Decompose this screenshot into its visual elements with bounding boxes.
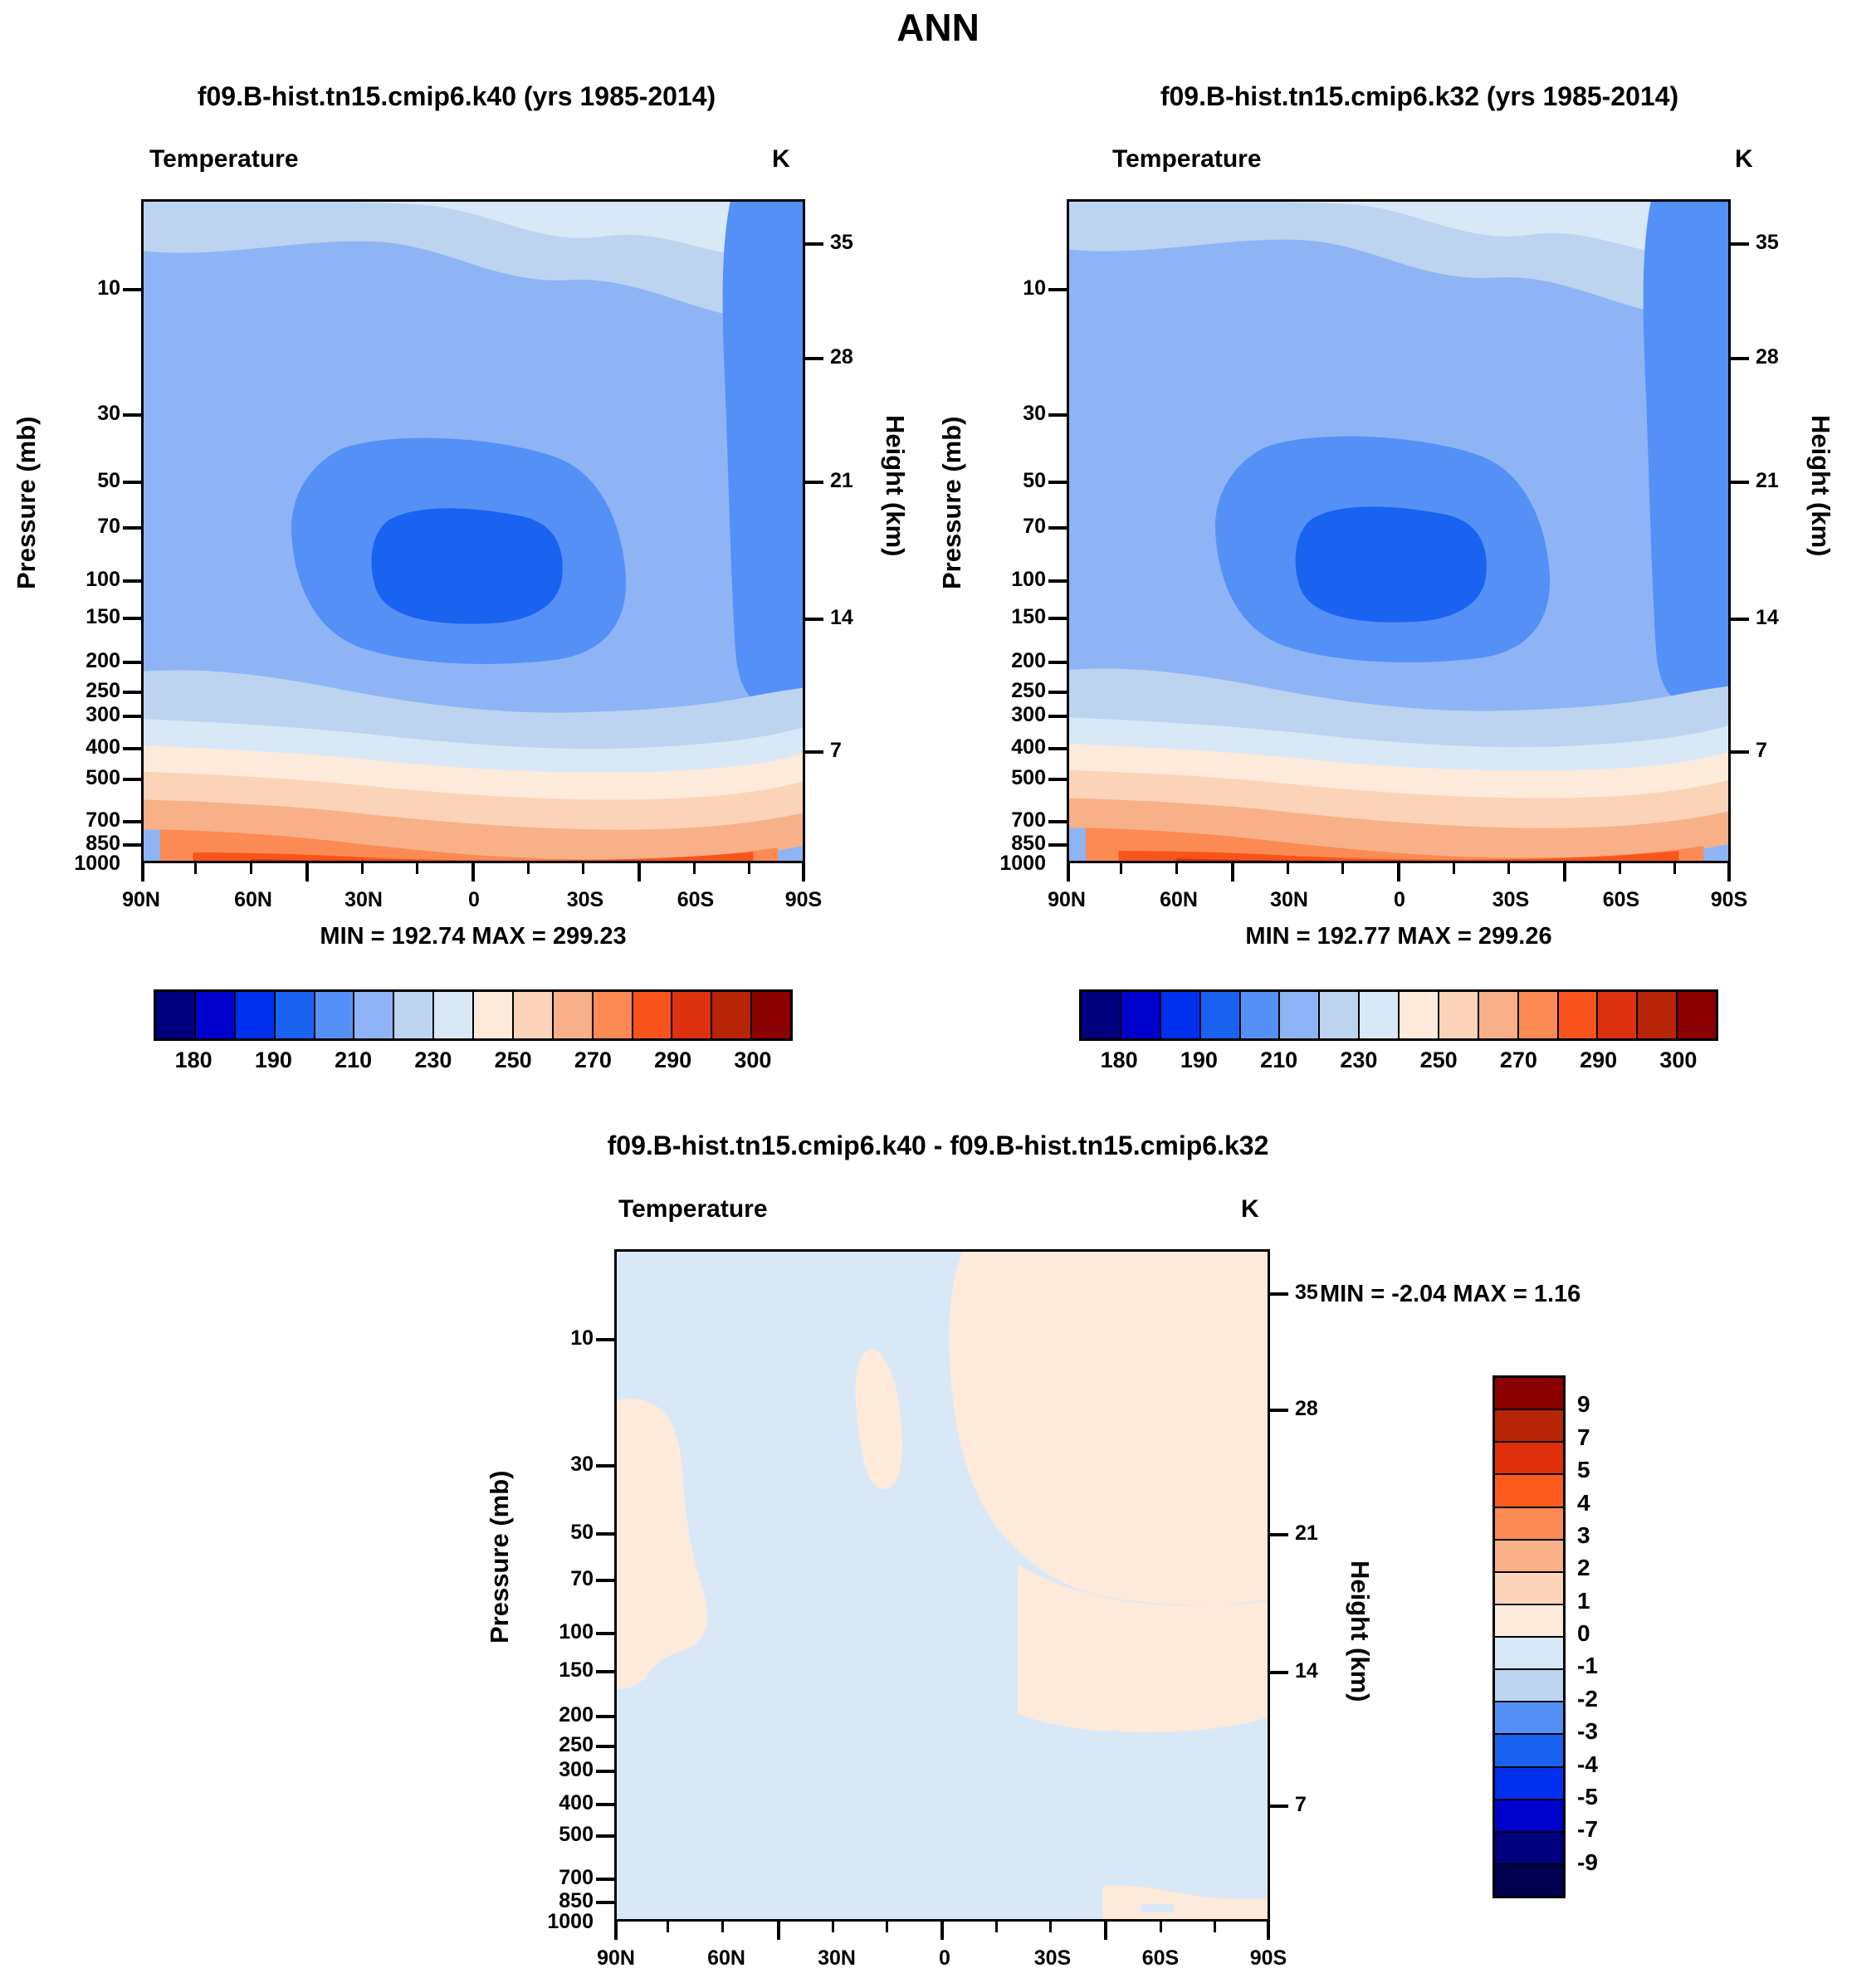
- right-ytick-mark-400: [1048, 747, 1067, 750]
- left-ytick-mark-150: [123, 617, 141, 620]
- colorbar-tick-label: 300: [1645, 1048, 1712, 1073]
- diff-htick-mark-14: [1270, 1671, 1288, 1674]
- colorbar-cell: [752, 992, 790, 1038]
- left-ytick-mark-250: [123, 691, 141, 694]
- colorbar-cell: [1495, 1378, 1563, 1410]
- right-ytick-mark-300: [1048, 715, 1067, 718]
- colorbar-cell: [1495, 1833, 1563, 1865]
- left-htick-21: 21: [830, 469, 853, 493]
- left-units-label: K: [772, 145, 790, 173]
- left-contour-plot[interactable]: [141, 199, 805, 863]
- left-height-axis-title: Height (km): [880, 415, 910, 664]
- colorbar-cell: [156, 992, 196, 1038]
- diff-htick-28: 28: [1295, 1397, 1318, 1421]
- diff-htick-mark-35: [1270, 1292, 1288, 1296]
- colorbar-cell: [434, 992, 474, 1038]
- diff-ytick-mark-200: [596, 1715, 614, 1718]
- right-ytick-mark-500: [1048, 778, 1067, 781]
- right-ptick-100: 100: [975, 568, 1046, 592]
- right-height-axis-title: Height (km): [1805, 415, 1835, 664]
- right-htick-mark-28: [1731, 357, 1749, 360]
- colorbar-cell: [1082, 992, 1121, 1038]
- colorbar-tick-label: 300: [720, 1048, 786, 1073]
- left-ptick-100: 100: [50, 568, 120, 592]
- right-xtick-60S: 60S: [1580, 888, 1663, 912]
- colorbar-tick-label: 210: [1246, 1048, 1312, 1073]
- colorbar-tick-label: 270: [559, 1048, 626, 1073]
- colorbar-tick-label: -2: [1577, 1686, 1598, 1712]
- right-ytick-mark-100: [1048, 579, 1067, 583]
- left-ytick-mark-300: [123, 715, 141, 718]
- diff-xtick-60N: 60N: [685, 1946, 768, 1971]
- left-xtick-30N: 30N: [322, 888, 405, 912]
- right-contour-plot[interactable]: [1067, 199, 1731, 863]
- diff-ytick-mark-400: [596, 1803, 614, 1806]
- left-ytick-mark-850: [123, 843, 141, 847]
- colorbar-tick-label: -1: [1577, 1653, 1598, 1679]
- colorbar-cell: [1678, 992, 1716, 1038]
- right-xtick-90S: 90S: [1688, 888, 1771, 912]
- colorbar-tick-label: -9: [1577, 1849, 1598, 1876]
- diff-htick-35: 35: [1295, 1281, 1318, 1305]
- left-pressure-axis-title: Pressure (mb): [12, 315, 42, 589]
- colorbar-tick-label: 3: [1577, 1522, 1590, 1549]
- right-ytick-mark-700: [1048, 820, 1067, 823]
- colorbar-cell: [1495, 1865, 1563, 1896]
- diff-ptick-150: 150: [523, 1658, 594, 1683]
- left-ptick-150: 150: [50, 605, 120, 629]
- colorbar-cell: [236, 992, 276, 1038]
- right-htick-mark-35: [1731, 242, 1749, 246]
- colorbar-cell: [1495, 1443, 1563, 1475]
- diff-ptick-500: 500: [523, 1823, 594, 1847]
- diff-htick-mark-28: [1270, 1409, 1288, 1412]
- right-ptick-300: 300: [975, 703, 1046, 727]
- colorbar-cell: [1495, 1670, 1563, 1702]
- colorbar-tick-label: 4: [1577, 1490, 1590, 1516]
- colorbar-cell: [1320, 992, 1360, 1038]
- colorbar-cell: [276, 992, 315, 1038]
- left-ytick-mark-10: [123, 288, 141, 291]
- colorbar-tick-label: -5: [1577, 1784, 1598, 1810]
- colorbar-cell: [672, 992, 712, 1038]
- colorbar-cell: [1280, 992, 1320, 1038]
- colorbar-cell: [1121, 992, 1161, 1038]
- colorbar-cell: [1495, 1638, 1563, 1670]
- right-ptick-50: 50: [975, 469, 1046, 493]
- right-htick-mark-14: [1731, 618, 1749, 621]
- figure-suptitle: ANN: [0, 5, 1876, 50]
- colorbar-cell: [1495, 1410, 1563, 1443]
- left-ytick-mark-50: [123, 481, 141, 484]
- colorbar-tick-label: -4: [1577, 1751, 1598, 1778]
- left-ptick-70: 70: [50, 515, 120, 539]
- colorbar-cell: [1161, 992, 1201, 1038]
- colorbar-cell: [1495, 1735, 1563, 1767]
- colorbar-cell: [315, 992, 355, 1038]
- diff-ptick-300: 300: [523, 1758, 594, 1782]
- right-htick-mark-21: [1731, 481, 1749, 484]
- colorbar-cell: [633, 992, 673, 1038]
- diff-xtick-90S: 90S: [1227, 1946, 1310, 1971]
- colorbar-cell: [1598, 992, 1638, 1038]
- colorbar-tick-label: 190: [1165, 1048, 1232, 1073]
- left-ytick-mark-500: [123, 778, 141, 781]
- left-ptick-50: 50: [50, 469, 120, 493]
- colorbar-cell: [1495, 1541, 1563, 1573]
- colorbar-tick-label: 230: [1326, 1048, 1392, 1073]
- left-htick-mark-14: [805, 618, 823, 621]
- colorbar-cell: [1439, 992, 1479, 1038]
- right-ptick-30: 30: [975, 402, 1046, 426]
- colorbar-cell: [1638, 992, 1678, 1038]
- right-htick-mark-7: [1731, 750, 1749, 754]
- diff-ytick-mark-150: [596, 1670, 614, 1673]
- diff-height-axis-title: Height (km): [1345, 1560, 1375, 1810]
- colorbar-cell: [1495, 1605, 1563, 1638]
- diff-colorbar-labels: 97543210-1-2-3-4-5-7-9: [1577, 1375, 1652, 1898]
- left-colorbar-labels: 180190210230250270290300: [154, 1048, 793, 1081]
- left-ptick-700: 700: [50, 808, 120, 833]
- diff-ptick-70: 70: [523, 1567, 594, 1591]
- diff-htick-7: 7: [1295, 1793, 1307, 1817]
- diff-panel-title: f09.B-hist.tn15.cmip6.k40 - f09.B-hist.t…: [274, 1131, 1602, 1161]
- left-htick-mark-21: [805, 481, 823, 484]
- left-xtick-0: 0: [432, 888, 515, 912]
- diff-xtick-0: 0: [903, 1946, 986, 1971]
- diff-ytick-mark-300: [596, 1770, 614, 1773]
- right-ptick-1000: 1000: [959, 852, 1046, 876]
- left-ytick-mark-700: [123, 820, 141, 823]
- right-ptick-700: 700: [975, 808, 1046, 833]
- left-xtick-90N: 90N: [100, 888, 183, 912]
- diff-xtick-30S: 30S: [1011, 1946, 1094, 1971]
- diff-variable-label: Temperature: [618, 1195, 768, 1223]
- colorbar-cell: [1495, 1768, 1563, 1800]
- left-ptick-10: 10: [50, 276, 120, 300]
- right-xtick-60N: 60N: [1137, 888, 1220, 912]
- left-ptick-500: 500: [50, 766, 120, 790]
- diff-ytick-mark-30: [596, 1464, 614, 1468]
- diff-xtick-90N: 90N: [574, 1946, 657, 1971]
- left-ytick-mark-30: [123, 413, 141, 417]
- left-ptick-400: 400: [50, 735, 120, 759]
- colorbar-cell: [1495, 1508, 1563, 1541]
- diff-xtick-60S: 60S: [1119, 1946, 1202, 1971]
- colorbar-tick-label: -3: [1577, 1718, 1598, 1745]
- diff-htick-14: 14: [1295, 1659, 1318, 1683]
- colorbar-tick-label: 250: [1405, 1048, 1472, 1073]
- colorbar-cell: [1400, 992, 1439, 1038]
- right-colorbar-labels: 180190210230250270290300: [1079, 1048, 1718, 1081]
- diff-xtick-30N: 30N: [795, 1946, 878, 1971]
- diff-htick-mark-21: [1270, 1533, 1288, 1536]
- colorbar-cell: [514, 992, 554, 1038]
- colorbar-tick-label: 5: [1577, 1457, 1590, 1483]
- colorbar-cell: [196, 992, 236, 1038]
- left-ptick-300: 300: [50, 703, 120, 727]
- right-units-label: K: [1735, 145, 1753, 173]
- diff-ytick-mark-10: [596, 1338, 614, 1341]
- diff-ytick-mark-700: [596, 1878, 614, 1881]
- colorbar-cell: [1201, 992, 1241, 1038]
- right-ptick-10: 10: [975, 276, 1046, 300]
- diff-ptick-250: 250: [523, 1733, 594, 1757]
- right-minmax-label: MIN = 192.77 MAX = 299.26: [1067, 923, 1731, 950]
- left-xtick-90S: 90S: [762, 888, 845, 912]
- right-htick-7: 7: [1756, 739, 1767, 763]
- colorbar-tick-label: 290: [640, 1048, 706, 1073]
- right-ptick-150: 150: [975, 605, 1046, 629]
- colorbar-cell: [1495, 1475, 1563, 1507]
- left-ytick-mark-70: [123, 526, 141, 530]
- right-ytick-mark-250: [1048, 691, 1067, 694]
- diff-ptick-100: 100: [523, 1620, 594, 1644]
- right-ytick-mark-850: [1048, 843, 1067, 847]
- diff-htick-mark-7: [1270, 1805, 1288, 1808]
- right-ptick-400: 400: [975, 735, 1046, 759]
- left-htick-mark-35: [805, 242, 823, 246]
- right-ptick-200: 200: [975, 649, 1046, 673]
- left-xtick-60N: 60N: [212, 888, 295, 912]
- diff-ytick-mark-70: [596, 1579, 614, 1582]
- colorbar-tick-label: 270: [1485, 1048, 1551, 1073]
- colorbar-tick-label: 2: [1577, 1555, 1590, 1581]
- diff-xaxis-ticks: [614, 1922, 1270, 1940]
- colorbar-cell: [354, 992, 394, 1038]
- left-htick-7: 7: [830, 739, 842, 763]
- left-panel-title: f09.B-hist.tn15.cmip6.k40 (yrs 1985-2014…: [25, 81, 888, 112]
- right-ytick-mark-50: [1048, 481, 1067, 484]
- diff-htick-21: 21: [1295, 1521, 1318, 1546]
- diff-units-label: K: [1241, 1195, 1259, 1223]
- right-variable-label: Temperature: [1112, 145, 1262, 173]
- diff-pressure-axis-title: Pressure (mb): [485, 1370, 515, 1643]
- right-xtick-30S: 30S: [1469, 888, 1552, 912]
- colorbar-tick-label: 190: [240, 1048, 306, 1073]
- colorbar-tick-label: -7: [1577, 1816, 1598, 1843]
- colorbar-cell: [394, 992, 434, 1038]
- colorbar-cell: [1495, 1800, 1563, 1833]
- diff-ptick-30: 30: [523, 1453, 594, 1477]
- left-ptick-250: 250: [50, 679, 120, 703]
- colorbar-tick-label: 7: [1577, 1424, 1590, 1451]
- left-xtick-60S: 60S: [654, 888, 737, 912]
- right-htick-35: 35: [1756, 231, 1779, 255]
- diff-ytick-mark-100: [596, 1632, 614, 1635]
- diff-ptick-400: 400: [523, 1791, 594, 1815]
- diff-ptick-50: 50: [523, 1521, 594, 1545]
- colorbar-tick-label: 290: [1566, 1048, 1632, 1073]
- colorbar-tick-label: 1: [1577, 1588, 1590, 1614]
- colorbar-cell: [554, 992, 594, 1038]
- left-ytick-mark-400: [123, 747, 141, 750]
- diff-ytick-mark-50: [596, 1532, 614, 1536]
- colorbar-cell: [474, 992, 514, 1038]
- colorbar-tick-label: 250: [480, 1048, 546, 1073]
- left-htick-35: 35: [830, 231, 853, 255]
- right-htick-14: 14: [1756, 606, 1779, 630]
- colorbar-tick-label: 9: [1577, 1391, 1590, 1418]
- colorbar-tick-label: 0: [1577, 1620, 1590, 1647]
- left-xtick-30S: 30S: [544, 888, 627, 912]
- left-htick-mark-7: [805, 750, 823, 754]
- left-ptick-30: 30: [50, 402, 120, 426]
- right-xaxis-ticks: [1067, 863, 1731, 882]
- left-htick-28: 28: [830, 345, 853, 369]
- left-ptick-200: 200: [50, 649, 120, 673]
- right-ptick-70: 70: [975, 515, 1046, 539]
- right-htick-21: 21: [1756, 469, 1779, 493]
- right-xtick-30N: 30N: [1248, 888, 1331, 912]
- diff-ptick-700: 700: [523, 1866, 594, 1890]
- colorbar-cell: [1519, 992, 1559, 1038]
- colorbar-cell: [712, 992, 752, 1038]
- left-variable-label: Temperature: [149, 145, 299, 173]
- right-xtick-0: 0: [1358, 888, 1441, 912]
- diff-ytick-mark-850: [596, 1901, 614, 1904]
- right-ytick-mark-200: [1048, 661, 1067, 664]
- left-ytick-mark-100: [123, 579, 141, 583]
- diff-ptick-10: 10: [523, 1326, 594, 1350]
- right-ptick-250: 250: [975, 679, 1046, 703]
- left-colorbar[interactable]: [154, 989, 793, 1041]
- colorbar-cell: [1241, 992, 1281, 1038]
- colorbar-cell: [1559, 992, 1599, 1038]
- diff-minmax-label: MIN = -2.04 MAX = 1.16: [1320, 1281, 1818, 1308]
- diff-ytick-mark-500: [596, 1834, 614, 1838]
- colorbar-cell: [1479, 992, 1519, 1038]
- right-ytick-mark-30: [1048, 413, 1067, 417]
- colorbar-cell: [1360, 992, 1400, 1038]
- left-htick-mark-28: [805, 357, 823, 360]
- left-ytick-mark-200: [123, 661, 141, 664]
- diff-ytick-mark-250: [596, 1745, 614, 1748]
- colorbar-tick-label: 180: [1086, 1048, 1152, 1073]
- diff-ptick-1000: 1000: [506, 1910, 594, 1934]
- diff-colorbar[interactable]: [1492, 1375, 1566, 1898]
- colorbar-tick-label: 230: [400, 1048, 467, 1073]
- right-colorbar[interactable]: [1079, 989, 1718, 1041]
- right-panel-title: f09.B-hist.tn15.cmip6.k32 (yrs 1985-2014…: [988, 81, 1851, 112]
- right-ytick-mark-150: [1048, 617, 1067, 620]
- colorbar-tick-label: 180: [160, 1048, 227, 1073]
- left-xaxis-ticks: [141, 863, 805, 882]
- colorbar-tick-label: 210: [320, 1048, 387, 1073]
- right-ptick-500: 500: [975, 766, 1046, 790]
- colorbar-cell: [1495, 1702, 1563, 1735]
- right-ytick-mark-10: [1048, 288, 1067, 291]
- diff-ptick-200: 200: [523, 1703, 594, 1727]
- right-ytick-mark-70: [1048, 526, 1067, 530]
- diff-contour-plot[interactable]: [614, 1249, 1270, 1922]
- colorbar-cell: [594, 992, 633, 1038]
- right-htick-28: 28: [1756, 345, 1779, 369]
- left-minmax-label: MIN = 192.74 MAX = 299.23: [141, 923, 805, 950]
- left-ptick-1000: 1000: [33, 852, 120, 876]
- right-pressure-axis-title: Pressure (mb): [937, 315, 967, 589]
- left-htick-14: 14: [830, 606, 853, 630]
- right-xtick-90N: 90N: [1025, 888, 1108, 912]
- colorbar-cell: [1495, 1573, 1563, 1605]
